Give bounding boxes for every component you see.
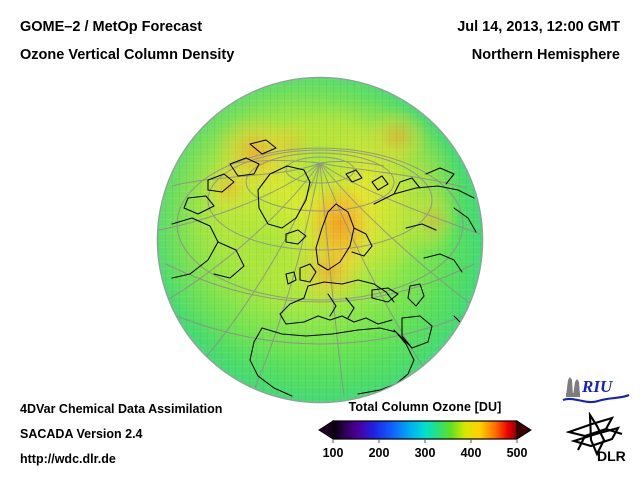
colorbar-tick-1: 200 <box>369 446 390 460</box>
colorbar-tick-3: 400 <box>461 446 482 460</box>
footer-url[interactable]: http://wdc.dlr.de <box>20 452 116 466</box>
globe-disc <box>158 78 482 402</box>
colorbar-tick-4: 500 <box>507 446 528 460</box>
header-instrument-title: GOME–2 / MetOp Forecast <box>20 19 202 35</box>
ozone-map-globe <box>158 78 482 402</box>
coastlines <box>158 78 482 402</box>
ozone-forecast-figure: GOME–2 / MetOp Forecast Ozone Vertical C… <box>0 0 640 480</box>
riu-wordmark: RIU <box>581 377 613 396</box>
colorbar-ticklabels: 100 200 300 400 500 <box>318 446 532 464</box>
dlr-wordmark: DLR <box>597 448 626 464</box>
colorbar-bar <box>318 420 532 444</box>
colorbar: Total Column Ozone [DU] <box>318 400 532 464</box>
header-region: Northern Hemisphere <box>472 47 620 63</box>
colorbar-tick-0: 100 <box>323 446 344 460</box>
header-datetime: Jul 14, 2013, 12:00 GMT <box>457 19 620 35</box>
dlr-logo: DLR <box>566 412 632 464</box>
footer-method: 4DVar Chemical Data Assimilation <box>20 402 222 416</box>
header-product-title: Ozone Vertical Column Density <box>20 47 234 63</box>
footer-version: SACADA Version 2.4 <box>20 427 143 441</box>
riu-logo: RIU <box>560 374 632 404</box>
colorbar-tick-2: 300 <box>415 446 436 460</box>
colorbar-title: Total Column Ozone [DU] <box>318 400 532 414</box>
